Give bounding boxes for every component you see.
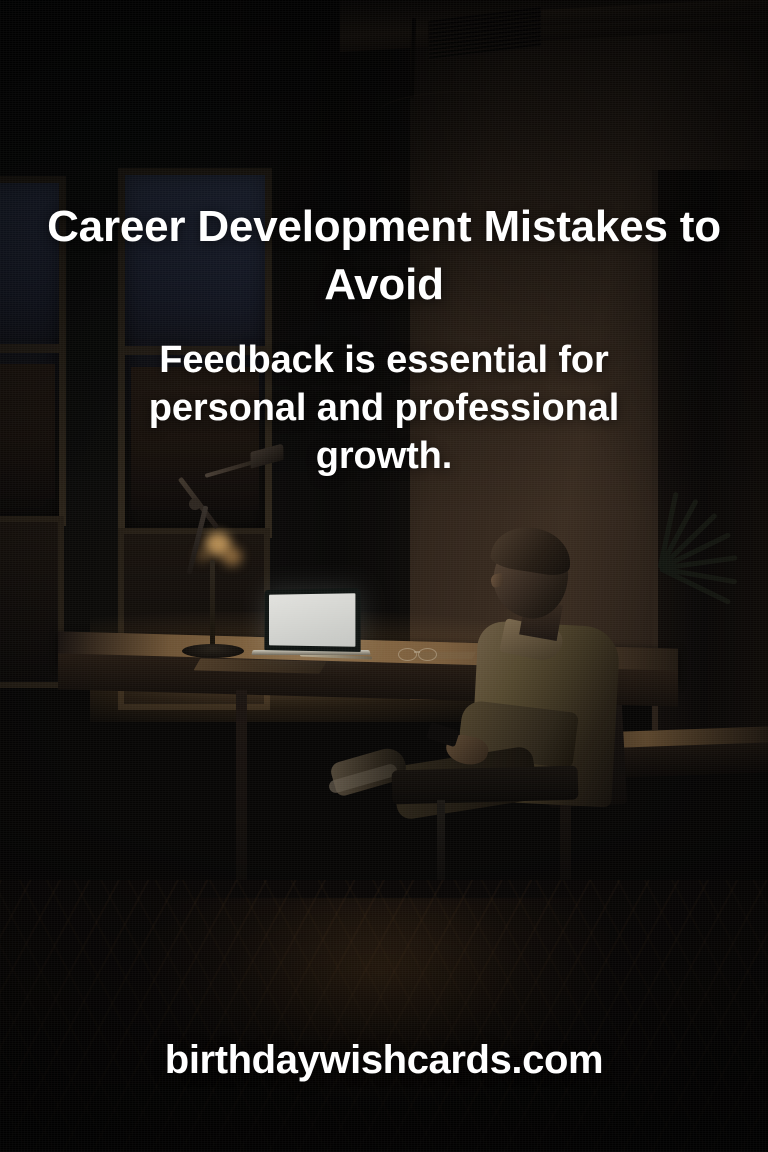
eyeglasses xyxy=(398,648,442,660)
bokeh-light xyxy=(222,547,242,566)
background-photo xyxy=(0,0,768,1152)
bokeh-light xyxy=(196,549,210,562)
wood-floor xyxy=(0,880,768,1152)
brand-watermark[interactable]: birthdaywishcards.com xyxy=(0,1034,768,1086)
headline-line-1: Career Development Mistakes to xyxy=(47,202,721,251)
laptop xyxy=(264,588,360,652)
wall-ornament xyxy=(702,48,756,112)
smartphone xyxy=(426,722,460,747)
page-title: Career Development Mistakes to Avoid xyxy=(0,198,768,314)
social-card: Career Development Mistakes to Avoid Fee… xyxy=(0,0,768,1152)
lamp-stem xyxy=(210,560,215,648)
subtitle: Feedback is essential for personal and p… xyxy=(119,336,649,480)
office-chair-seat xyxy=(392,766,579,805)
lamp-base xyxy=(182,644,244,658)
laptop-screen xyxy=(269,593,355,646)
headline-line-2: Avoid xyxy=(0,256,768,314)
headline-block: Career Development Mistakes to Avoid Fee… xyxy=(0,198,768,480)
lamp-joint xyxy=(189,498,201,510)
window-lower-a xyxy=(0,516,64,688)
